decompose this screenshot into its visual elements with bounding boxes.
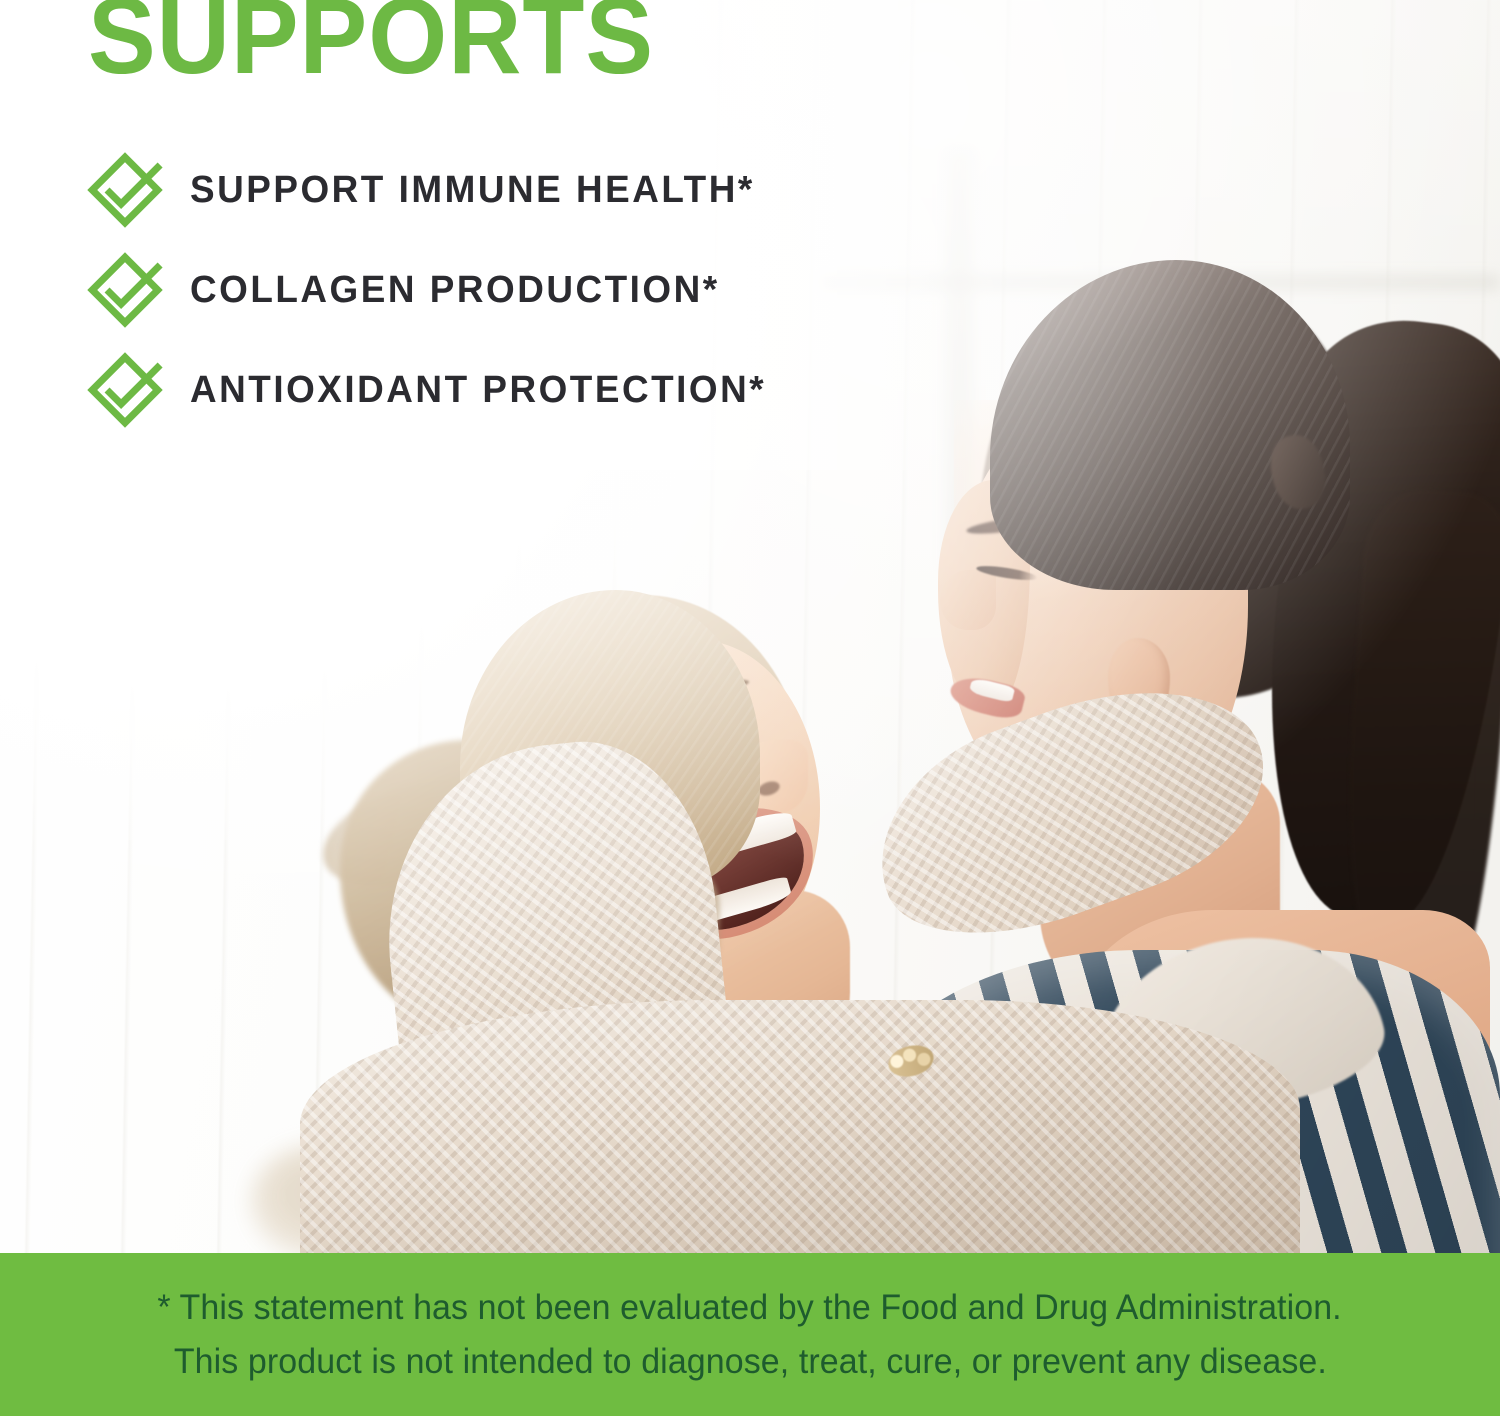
benefit-item: COLLAGEN PRODUCTION* bbox=[86, 240, 946, 340]
disclaimer-banner: * This statement has not been evaluated … bbox=[0, 1253, 1500, 1416]
disclaimer-line-2: This product is not intended to diagnose… bbox=[173, 1335, 1326, 1388]
diamond-check-icon bbox=[86, 151, 164, 229]
disclaimer-line-1: * This statement has not been evaluated … bbox=[158, 1281, 1342, 1334]
benefit-label: ANTIOXIDANT PROTECTION* bbox=[190, 369, 766, 412]
diamond-check-icon bbox=[86, 351, 164, 429]
benefit-label: SUPPORT IMMUNE HEALTH* bbox=[190, 169, 755, 212]
page-title: SUPPORTS bbox=[88, 0, 654, 90]
benefit-label: COLLAGEN PRODUCTION* bbox=[190, 269, 720, 312]
benefit-item: ANTIOXIDANT PROTECTION* bbox=[86, 340, 946, 440]
diamond-check-icon bbox=[86, 251, 164, 329]
benefits-list: SUPPORT IMMUNE HEALTH* COLLAGEN PRODUCTI… bbox=[86, 140, 946, 440]
benefit-item: SUPPORT IMMUNE HEALTH* bbox=[86, 140, 946, 240]
woman-hair-top bbox=[990, 260, 1350, 590]
knit-blanket-shading bbox=[300, 1000, 1300, 1253]
product-benefits-poster: SUPPORTS SUPPORT IMMUNE HEALTH* COLLAGEN… bbox=[0, 0, 1500, 1416]
